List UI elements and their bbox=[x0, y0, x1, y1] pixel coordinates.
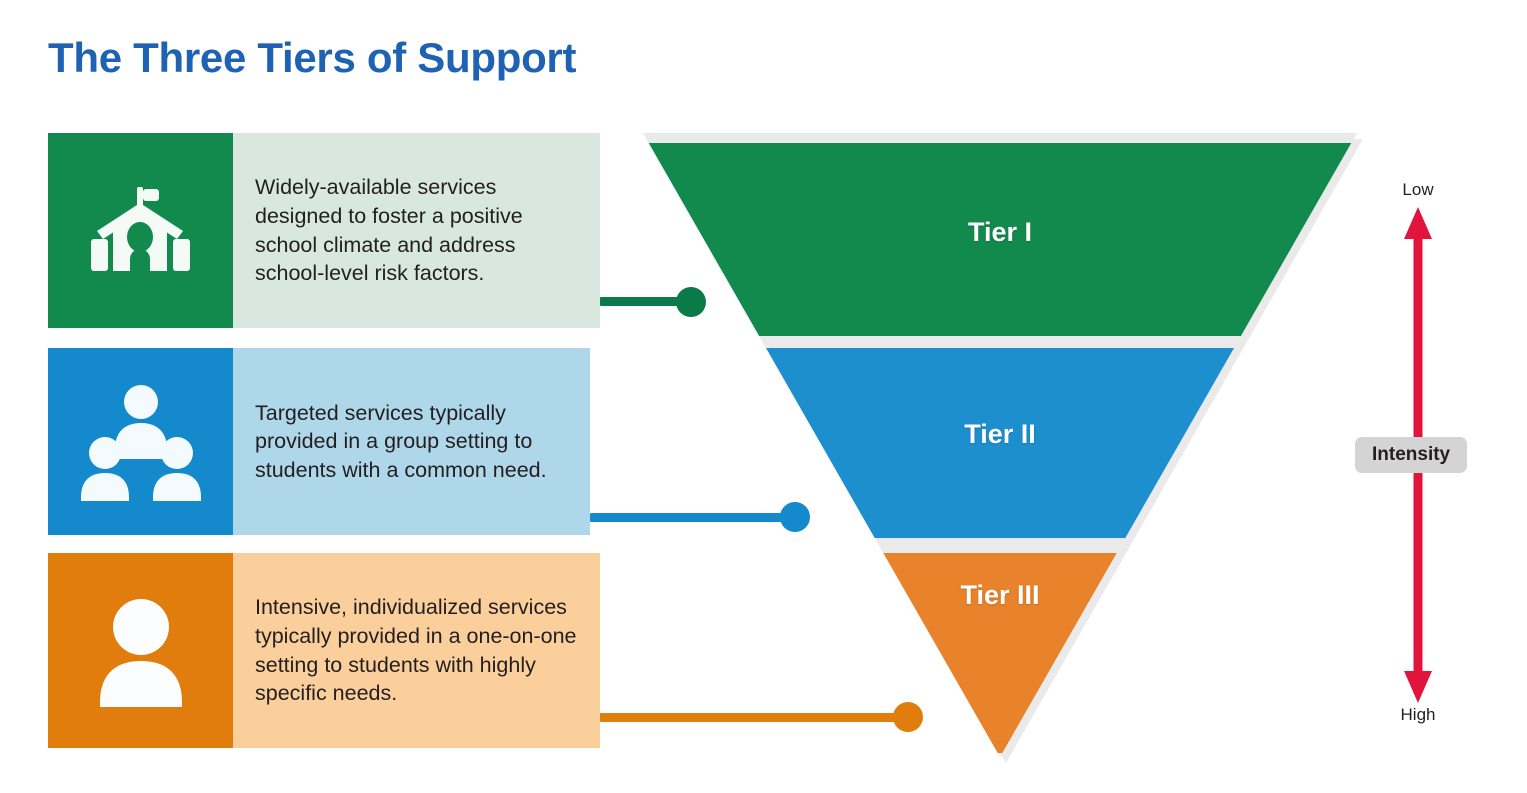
tier-icon-tile-tier-1 bbox=[48, 133, 233, 328]
tier-text-panel-tier-1: Widely-available services designed to fo… bbox=[233, 133, 600, 328]
three-people-group-icon bbox=[78, 383, 204, 501]
intensity-label: Intensity bbox=[1355, 437, 1467, 473]
infographic-page: The Three Tiers of Support bbox=[0, 0, 1527, 793]
arrow-head-up bbox=[1404, 207, 1432, 239]
tier-description-tier-1: Widely-available services designed to fo… bbox=[255, 173, 582, 287]
tier-card-tier-2: Targeted services typically provided in … bbox=[48, 348, 590, 535]
tier-text-panel-tier-3: Intensive, individualized services typic… bbox=[233, 553, 600, 748]
tier-card-tier-3: Intensive, individualized services typic… bbox=[48, 553, 600, 748]
tier-description-tier-3: Intensive, individualized services typic… bbox=[255, 593, 582, 707]
tier-icon-tile-tier-2 bbox=[48, 348, 233, 535]
page-title: The Three Tiers of Support bbox=[48, 34, 576, 82]
pyramid-label-tier-1: Tier I bbox=[968, 217, 1032, 248]
pyramid-label-tier-3: Tier III bbox=[960, 580, 1039, 611]
tier-text-panel-tier-2: Targeted services typically provided in … bbox=[233, 348, 590, 535]
tier-description-tier-2: Targeted services typically provided in … bbox=[255, 399, 572, 485]
axis-cap-low: Low bbox=[1402, 180, 1433, 200]
axis-cap-high: High bbox=[1401, 705, 1436, 725]
single-person-icon bbox=[89, 595, 193, 707]
tier-card-tier-1: Widely-available services designed to fo… bbox=[48, 133, 600, 328]
tier-icon-tile-tier-3 bbox=[48, 553, 233, 748]
pyramid-label-tier-2: Tier II bbox=[964, 419, 1036, 450]
arrow-head-down bbox=[1404, 671, 1432, 703]
school-building-icon bbox=[85, 175, 197, 287]
